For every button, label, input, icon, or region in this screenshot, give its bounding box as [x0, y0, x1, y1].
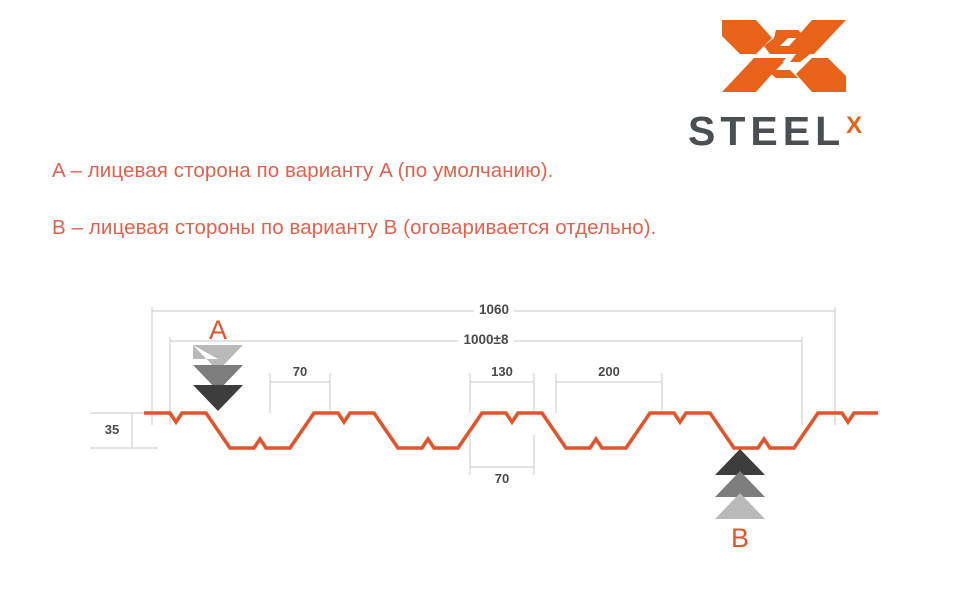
brand-logo: STEELX: [688, 16, 900, 146]
dim-label-rib-pitch-inner: 130: [486, 364, 518, 379]
side-b-label: B: [731, 523, 749, 553]
legend-line-side-a: A – лицевая сторона по варианту A (по ум…: [52, 159, 553, 183]
wordmark-superscript-x: X: [846, 112, 862, 140]
wordmark-text: STEEL: [688, 108, 845, 155]
dim-label-covering-width: 1000±8: [459, 332, 514, 347]
chevron-down-marker-icon: [193, 345, 243, 411]
side-a-marker: A: [193, 315, 243, 411]
dim-label-crest-top-width: 70: [288, 364, 312, 379]
dim-label-valley-bottom-width: 70: [490, 471, 514, 486]
side-b-marker: B: [715, 449, 765, 553]
steelx-x-mark-icon: [720, 16, 848, 96]
chevron-up-marker-icon: [715, 449, 765, 519]
profile-svg: A B: [90, 285, 880, 555]
profile-technical-drawing: A B 1060 1000±8 70 130 200 70 35: [90, 285, 880, 555]
corrugated-profile-line: [144, 413, 878, 448]
side-a-label: A: [209, 315, 227, 345]
brand-wordmark: STEELX: [688, 108, 900, 150]
dim-label-overall-width: 1060: [474, 302, 514, 317]
dim-label-rib-pitch-outer: 200: [593, 364, 625, 379]
dim-label-profile-height: 35: [100, 422, 124, 437]
legend-line-side-b: B – лицевая стороны по варианту B (огова…: [52, 216, 656, 240]
